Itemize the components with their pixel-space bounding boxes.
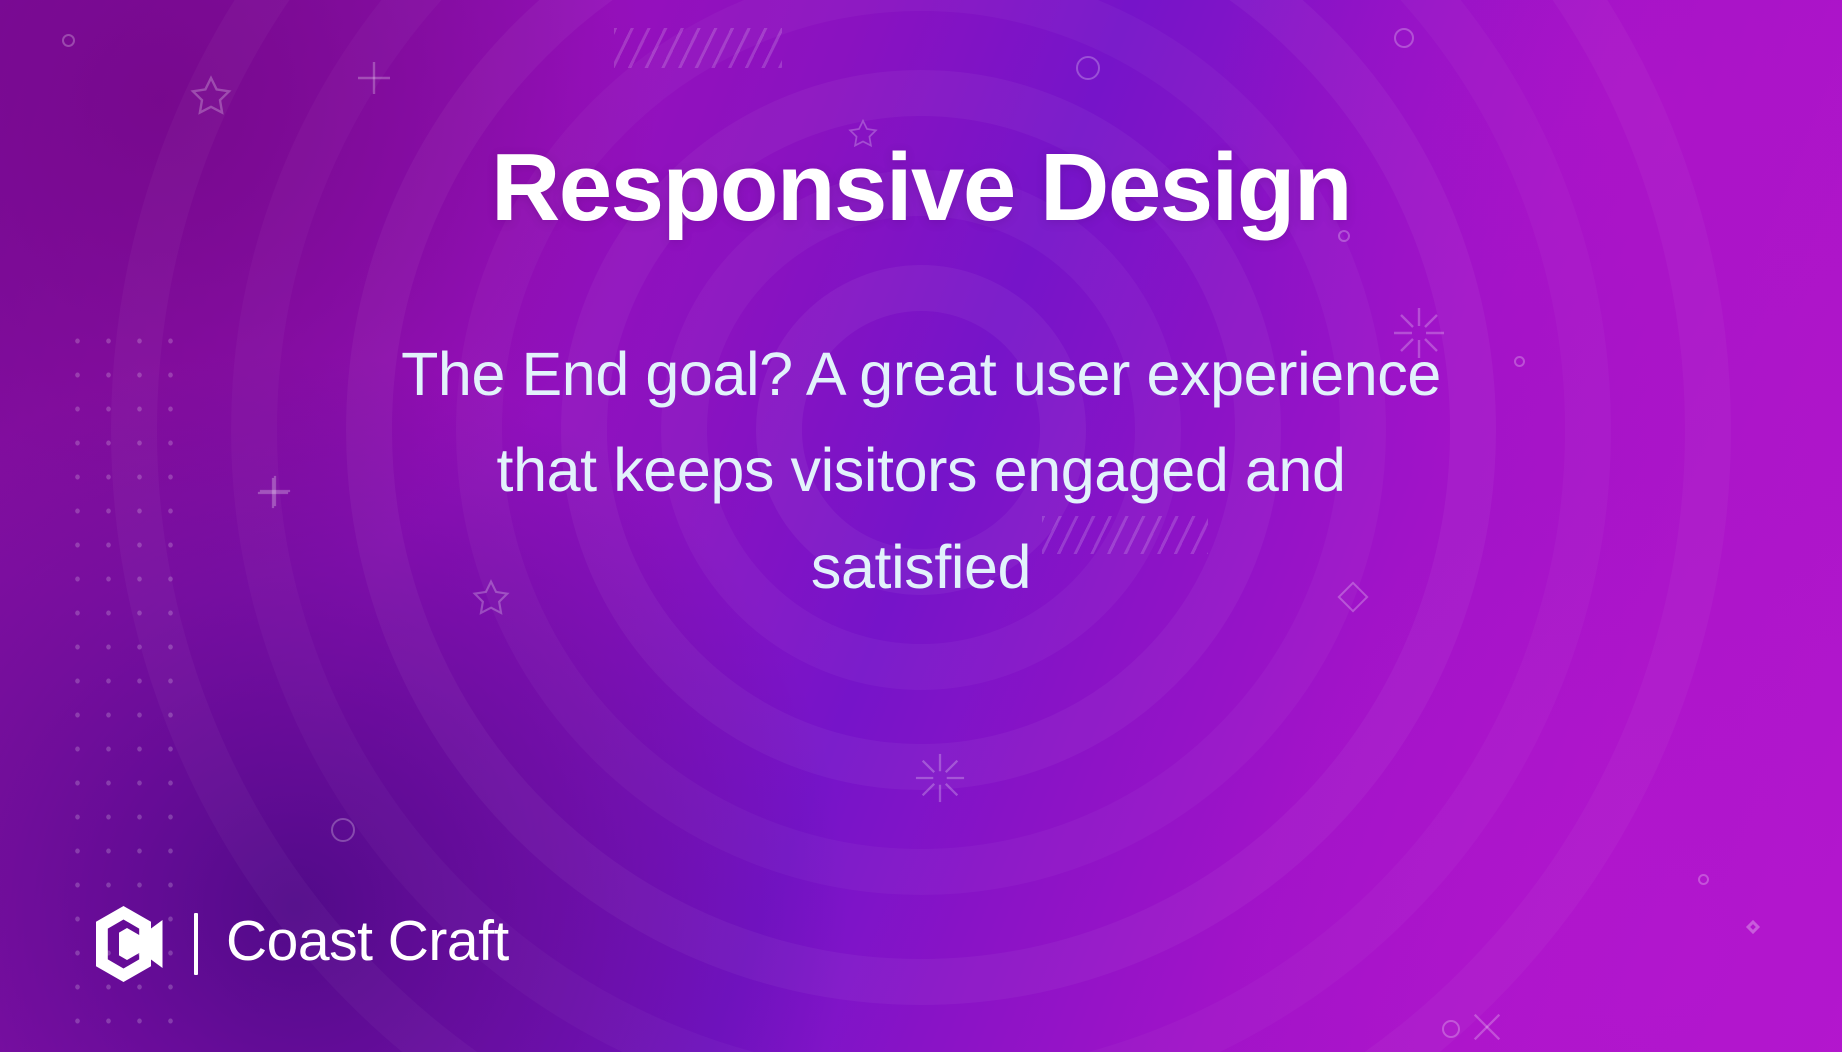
slide-canvas: Responsive Design The End goal? A great … [0,0,1842,1052]
subtitle-line: The End goal? A great user experience [271,326,1571,422]
slide-content: Responsive Design The End goal? A great … [0,0,1842,1052]
subtitle-line: that keeps visitors engaged and [271,422,1571,518]
coast-craft-hexagon-logo-icon [92,904,164,984]
brand-name: Coast Craft [226,913,509,976]
brand-lockup: Coast Craft [92,898,509,990]
brand-divider [194,913,198,975]
subtitle-block: The End goal? A great user experience th… [271,326,1571,615]
page-title: Responsive Design [0,138,1842,239]
subtitle-line: satisfied [271,519,1571,615]
